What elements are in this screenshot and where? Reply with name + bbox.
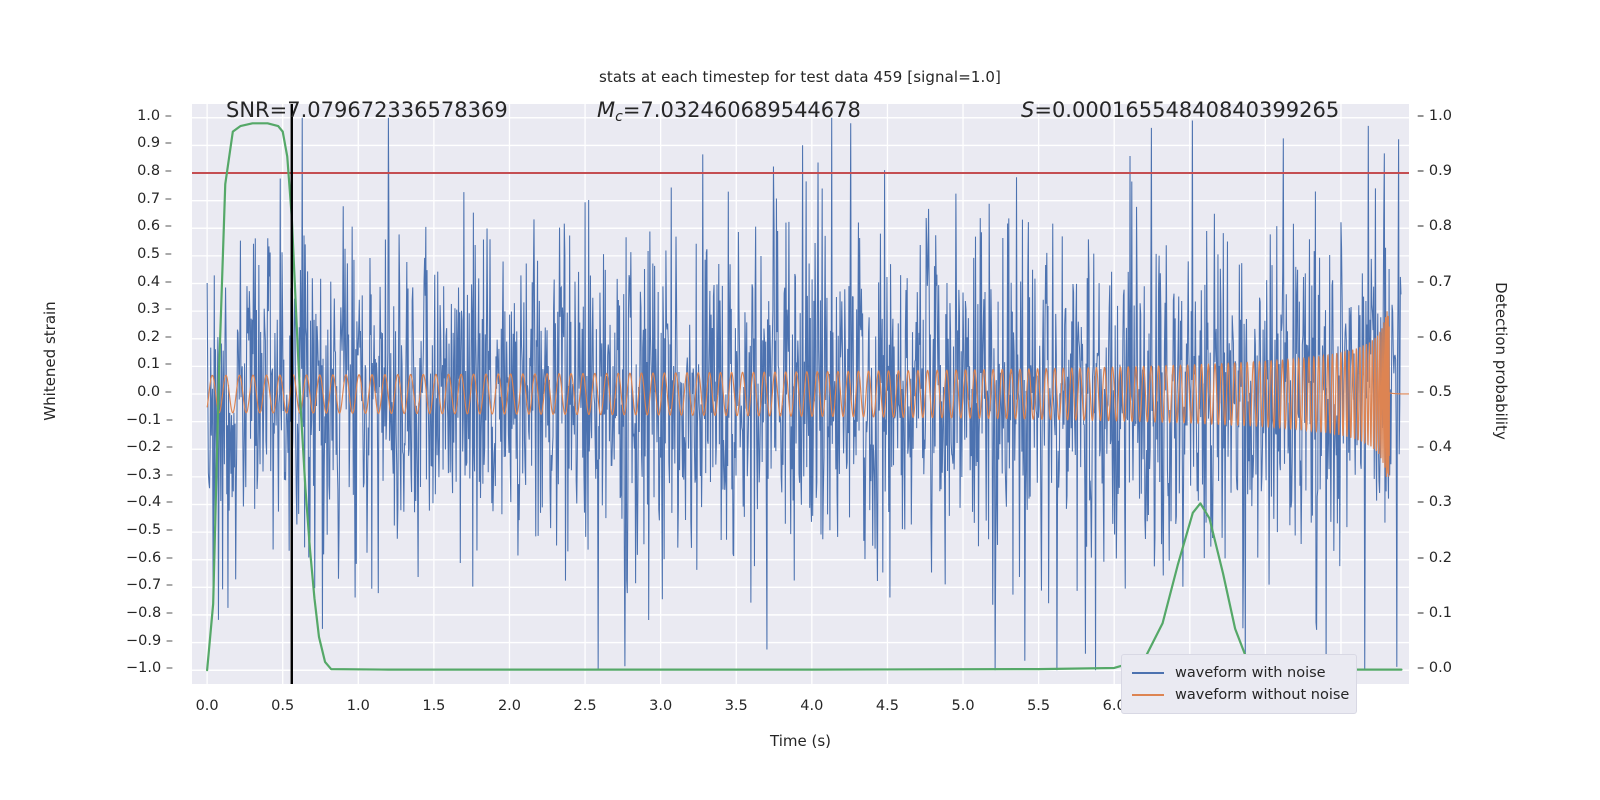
- y-left-tick-label: 0.7 –: [126, 191, 172, 207]
- y-right-tick-label: – 0.2: [1417, 550, 1477, 566]
- annotation-chirp-mass: Mc=7.032460689544678: [597, 98, 861, 125]
- y-right-tick-label: – 0.9: [1417, 163, 1477, 179]
- plot-svg: [192, 104, 1409, 684]
- y-left-tick-label: 1.0 –: [126, 108, 172, 124]
- y-right-tick-label: – 0.3: [1417, 494, 1477, 510]
- x-tick-label: 3.5: [706, 698, 766, 714]
- y-left-tick-label: −1.0 –: [126, 660, 172, 676]
- y-left-tick-label: −0.2 –: [126, 439, 172, 455]
- figure-canvas: stats at each timestep for test data 459…: [0, 0, 1600, 800]
- y-axis-right-label: Detection probability: [1492, 246, 1510, 476]
- y-right-tick-label: – 0.5: [1417, 384, 1477, 400]
- x-tick-label: 4.5: [857, 698, 917, 714]
- x-tick-label: 5.0: [933, 698, 993, 714]
- x-tick-label: 1.0: [328, 698, 388, 714]
- x-tick-label: 5.5: [1009, 698, 1069, 714]
- y-left-tick-label: −0.3 –: [126, 467, 172, 483]
- y-right-tick-label: – 0.4: [1417, 439, 1477, 455]
- y-right-tick-label: – 0.6: [1417, 329, 1477, 345]
- annotation-score-text: S=0.00016554840840399265: [1021, 98, 1339, 122]
- y-left-tick-label: 0.5 –: [126, 246, 172, 262]
- legend[interactable]: waveform with noisewaveform without nois…: [1121, 654, 1357, 714]
- legend-label: waveform without noise: [1175, 687, 1349, 703]
- y-left-tick-label: 0.3 –: [126, 301, 172, 317]
- legend-item[interactable]: waveform with noise: [1132, 662, 1344, 684]
- y-left-tick-label: −0.5 –: [126, 522, 172, 538]
- y-left-tick-label: −0.8 –: [126, 605, 172, 621]
- y-right-tick-label: – 0.1: [1417, 605, 1477, 621]
- y-left-tick-label: −0.4 –: [126, 494, 172, 510]
- legend-swatch: [1132, 672, 1164, 674]
- x-tick-label: 0.0: [177, 698, 237, 714]
- y-left-tick-label: −0.9 –: [126, 633, 172, 649]
- legend-label: waveform with noise: [1175, 665, 1326, 681]
- x-tick-label: 2.0: [479, 698, 539, 714]
- y-right-tick-label: – 0.0: [1417, 660, 1477, 676]
- y-right-tick-label: – 1.0: [1417, 108, 1477, 124]
- y-left-tick-label: 0.4 –: [126, 274, 172, 290]
- y-right-tick-label: – 0.7: [1417, 274, 1477, 290]
- x-tick-label: 3.0: [631, 698, 691, 714]
- annotation-score: S=0.00016554840840399265: [1021, 98, 1339, 122]
- legend-item[interactable]: waveform without noise: [1132, 684, 1344, 706]
- y-left-tick-label: 0.2 –: [126, 329, 172, 345]
- y-left-tick-label: 0.1 –: [126, 356, 172, 372]
- annotation-snr: SNR=7.079672336578369: [226, 98, 508, 122]
- x-tick-label: 1.5: [404, 698, 464, 714]
- y-left-tick-label: 0.9 –: [126, 135, 172, 151]
- y-left-tick-label: 0.6 –: [126, 218, 172, 234]
- x-tick-label: 2.5: [555, 698, 615, 714]
- x-axis-label: Time (s): [192, 732, 1409, 750]
- annotation-chirp-mass-text: Mc=7.032460689544678: [597, 98, 861, 122]
- x-tick-label: 0.5: [253, 698, 313, 714]
- y-left-tick-label: 0.8 –: [126, 163, 172, 179]
- y-left-tick-label: −0.6 –: [126, 550, 172, 566]
- y-left-tick-label: 0.0 –: [126, 384, 172, 400]
- plot-area[interactable]: [192, 104, 1409, 684]
- annotation-snr-text: SNR=7.079672336578369: [226, 98, 508, 122]
- y-right-tick-label: – 0.8: [1417, 218, 1477, 234]
- y-left-tick-label: −0.7 –: [126, 577, 172, 593]
- y-axis-left-label: Whitened strain: [41, 251, 59, 471]
- legend-swatch: [1132, 694, 1164, 696]
- y-left-tick-label: −0.1 –: [126, 412, 172, 428]
- figure-title: stats at each timestep for test data 459…: [0, 68, 1600, 86]
- x-tick-label: 4.0: [782, 698, 842, 714]
